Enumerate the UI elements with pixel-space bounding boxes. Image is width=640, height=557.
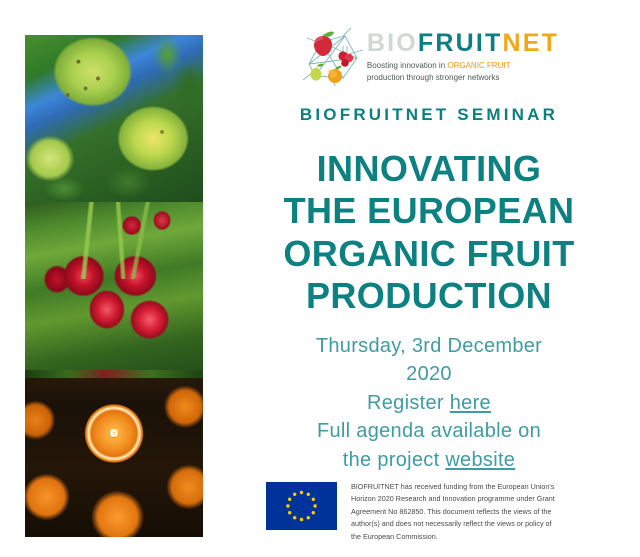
logo-word-fruit: FRUIT <box>418 29 503 57</box>
seminar-eyebrow: BIOFRUITNET SEMINAR <box>218 105 640 125</box>
fruit-network-icon <box>299 24 365 90</box>
photo-green-apples-on-tree <box>25 35 203 202</box>
event-date-line-1: Thursday, 3rd December <box>218 332 640 360</box>
tagline-line2: production through stronger networks <box>367 73 500 82</box>
logo-word-bio: BIO <box>367 29 418 57</box>
logo-text-block: BIOFRUITNET Boosting innovation in ORGAN… <box>367 31 559 83</box>
funding-line-2: Horizon 2020 Research and Innovation pro… <box>351 494 555 503</box>
photo-red-cherries <box>25 202 203 369</box>
logo-word-net: NET <box>503 29 560 57</box>
page-title: INNOVATING THE EUROPEAN ORGANIC FRUIT PR… <box>218 148 640 318</box>
european-union-flag-icon <box>266 482 337 530</box>
seminar-poster: BIOFRUITNET Boosting innovation in ORGAN… <box>0 0 640 557</box>
funding-line-4: author(s) and does not necessarily refle… <box>351 519 552 528</box>
headline-line-2: THE EUROPEAN <box>218 190 640 232</box>
biofruitnet-logo: BIOFRUITNET Boosting innovation in ORGAN… <box>218 24 640 90</box>
agenda-line-2: the project website <box>218 446 640 474</box>
photo-oranges-with-half-slice <box>25 370 203 537</box>
logo-wordmark: BIOFRUITNET <box>367 31 559 56</box>
register-line: Register here <box>218 389 640 417</box>
event-date-line-2: 2020 <box>218 360 640 388</box>
headline-line-4: PRODUCTION <box>218 275 640 317</box>
project-website-link[interactable]: website <box>445 449 515 471</box>
agenda-label: the project <box>343 449 446 471</box>
eu-funding-footer: BIOFRUITNET has received funding from th… <box>266 481 626 543</box>
funding-line-5: the European Commission. <box>351 532 438 541</box>
fruit-photo-column <box>25 35 203 537</box>
headline-line-3: ORGANIC FRUIT <box>218 233 640 275</box>
tagline-line1-accent: ORGANIC FRUIT <box>447 61 510 70</box>
register-here-link[interactable]: here <box>450 392 491 414</box>
funding-disclaimer-text: BIOFRUITNET has received funding from th… <box>351 481 555 543</box>
agenda-line-1: Full agenda available on <box>218 417 640 445</box>
event-details: Thursday, 3rd December 2020 Register her… <box>218 332 640 474</box>
logo-tagline: Boosting innovation in ORGANIC FRUIT pro… <box>367 60 559 83</box>
funding-line-3: Agreement No 862850. This document refle… <box>351 507 551 516</box>
register-label: Register <box>367 392 450 414</box>
headline-line-1: INNOVATING <box>218 148 640 190</box>
poster-content: BIOFRUITNET Boosting innovation in ORGAN… <box>218 0 640 557</box>
funding-line-1: BIOFRUITNET has received funding from th… <box>351 482 554 491</box>
tagline-line1-pre: Boosting innovation in <box>367 61 448 70</box>
